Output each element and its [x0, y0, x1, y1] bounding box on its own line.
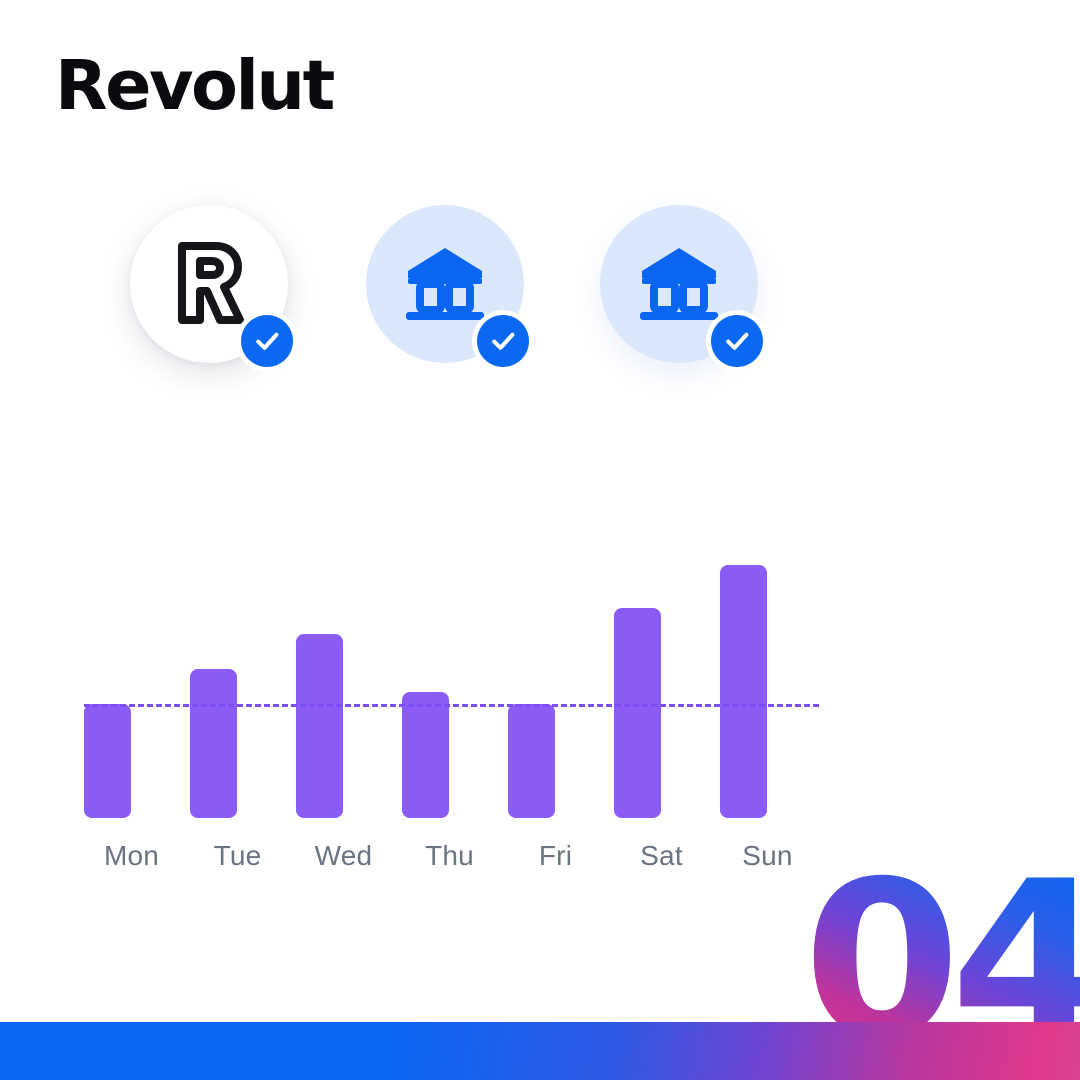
bank-icon	[638, 245, 720, 323]
footer-gradient-bar	[0, 1022, 1080, 1080]
chart-tick-label: Thu	[390, 840, 510, 872]
check-icon	[722, 326, 752, 356]
slide-canvas: Revolut	[0, 0, 1080, 1080]
chart-bar[interactable]	[84, 704, 131, 818]
account-item-bank-2[interactable]	[600, 205, 758, 363]
verified-badge	[472, 310, 534, 372]
chart-x-axis-labels: MonTueWedThuFriSatSun	[84, 840, 844, 880]
chart-tick-label: Fri	[496, 840, 616, 872]
verified-badge-circle	[711, 315, 763, 367]
linked-accounts-row	[130, 205, 810, 390]
revolut-r-logo-icon	[170, 240, 248, 326]
chart-plot-area	[84, 540, 844, 830]
verified-badge	[706, 310, 768, 372]
bank-icon	[404, 245, 486, 323]
chart-bar[interactable]	[402, 692, 449, 818]
weekly-spending-bar-chart	[0, 540, 1080, 880]
chart-tick-label: Sat	[602, 840, 722, 872]
revolut-wordmark-logo: Revolut	[55, 52, 333, 121]
chart-bar[interactable]	[296, 634, 343, 818]
check-icon	[252, 326, 282, 356]
chart-tick-label: Mon	[72, 840, 192, 872]
chart-bar[interactable]	[508, 704, 555, 818]
chart-bar[interactable]	[720, 565, 767, 818]
chart-bar[interactable]	[614, 608, 661, 818]
verified-badge-circle	[241, 315, 293, 367]
average-dashed-line	[84, 704, 819, 707]
account-item-revolut[interactable]	[130, 205, 288, 363]
chart-tick-label: Tue	[178, 840, 298, 872]
chart-bar[interactable]	[190, 669, 237, 818]
account-item-bank-1[interactable]	[366, 205, 524, 363]
chart-tick-label: Wed	[284, 840, 404, 872]
check-icon	[488, 326, 518, 356]
verified-badge	[236, 310, 298, 372]
verified-badge-circle	[477, 315, 529, 367]
